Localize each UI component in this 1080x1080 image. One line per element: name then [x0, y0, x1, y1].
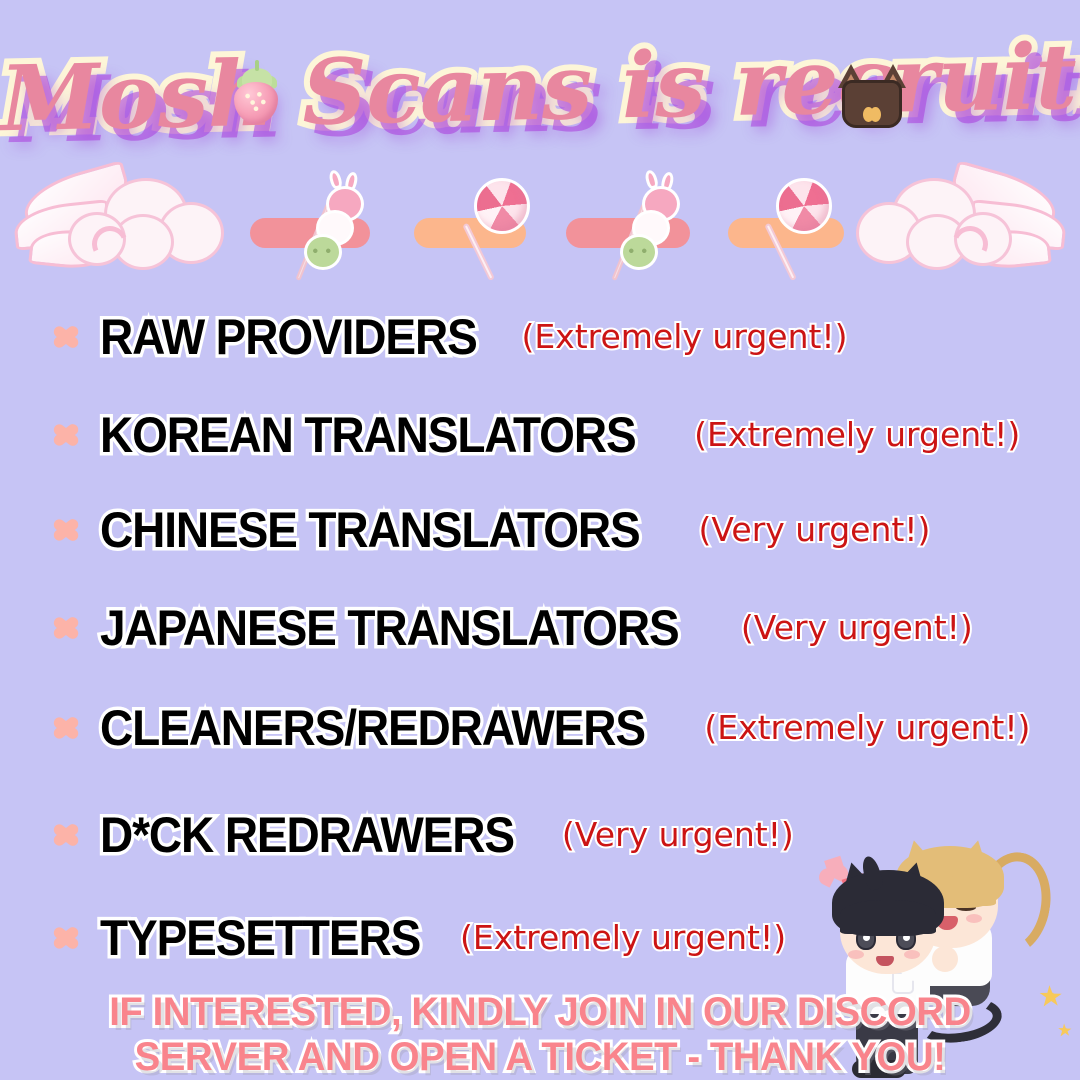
- role-urgency-tag: (Extremely urgent!): [460, 918, 786, 958]
- chevron-right-icon: [52, 605, 82, 651]
- list-item: RAW PROVIDERS (Extremely urgent!): [52, 304, 848, 370]
- blush: [966, 914, 982, 923]
- chevron-right-icon: [52, 915, 82, 961]
- role-title: RAW PROVIDERS: [100, 308, 477, 366]
- role-title: JAPANESE TRANSLATORS: [100, 599, 679, 657]
- blush: [848, 950, 864, 959]
- swirl-lollipop-icon: [742, 176, 838, 288]
- dark-boy-bangs: [840, 900, 936, 934]
- list-item: CHINESE TRANSLATORS (Very urgent!): [52, 497, 930, 563]
- role-urgency-tag: (Extremely urgent!): [521, 317, 847, 357]
- role-title: CLEANERS/REDRAWERS: [100, 699, 645, 757]
- winged-cloud-left-icon: [8, 168, 218, 280]
- list-item: TYPESETTERS (Extremely urgent!): [52, 905, 786, 971]
- call-to-action: IF INTERESTED, KINDLY JOIN IN OUR DISCOR…: [0, 990, 1080, 1080]
- chevron-right-icon: [52, 705, 82, 751]
- role-title: D*CK REDRAWERS: [100, 806, 514, 864]
- title-area: Mosh Scans is recruiting!: [0, 28, 1080, 158]
- pixel-cat-head-icon: [836, 66, 908, 132]
- list-item: JAPANESE TRANSLATORS (Very urgent!): [52, 595, 973, 661]
- list-item: KOREAN TRANSLATORS (Extremely urgent!): [52, 402, 1020, 468]
- winged-cloud-right-icon: [862, 168, 1072, 280]
- role-title: KOREAN TRANSLATORS: [100, 406, 636, 464]
- role-title: TYPESETTERS: [100, 909, 420, 967]
- decorative-divider: [0, 160, 1080, 290]
- chevron-right-icon: [52, 507, 82, 553]
- role-urgency-tag: (Very urgent!): [741, 608, 973, 648]
- list-item: D*CK REDRAWERS (Very urgent!): [52, 802, 794, 868]
- role-urgency-tag: (Very urgent!): [699, 510, 931, 550]
- role-urgency-tag: (Extremely urgent!): [704, 708, 1030, 748]
- strawberry-icon: [228, 64, 284, 126]
- bunny-dango-skewer-icon: [612, 180, 686, 290]
- cta-line-2: SERVER AND OPEN A TICKET - THANK YOU!: [22, 1035, 1059, 1080]
- page-title: Mosh Scans is recruiting!: [0, 17, 1080, 160]
- dark-boy-hand: [932, 946, 958, 972]
- chevron-right-icon: [52, 412, 82, 458]
- role-urgency-tag: (Very urgent!): [562, 815, 794, 855]
- cta-line-1: IF INTERESTED, KINDLY JOIN IN OUR DISCOR…: [22, 990, 1059, 1035]
- chevron-right-icon: [52, 314, 82, 360]
- blush: [904, 950, 920, 959]
- chevron-right-icon: [52, 812, 82, 858]
- recruitment-poster: { "poster": { "background_color": "#c6c4…: [0, 0, 1080, 1080]
- role-title: CHINESE TRANSLATORS: [100, 501, 640, 559]
- role-urgency-tag: (Extremely urgent!): [694, 415, 1020, 455]
- list-item: CLEANERS/REDRAWERS (Extremely urgent!): [52, 695, 1030, 761]
- swirl-lollipop-icon: [440, 176, 536, 288]
- bunny-dango-skewer-icon: [296, 180, 370, 290]
